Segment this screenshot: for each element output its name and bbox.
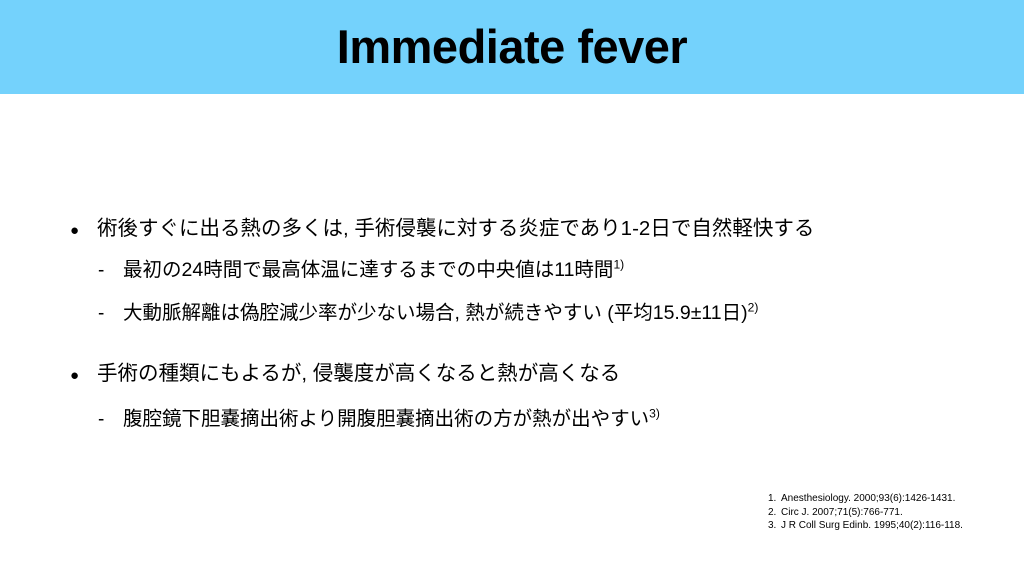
page-title: Immediate fever <box>337 23 687 70</box>
bullet-marker-dash-icon: - <box>98 410 123 429</box>
sub-bullet-item: - 腹腔鏡下胆嚢摘出術より開腹胆嚢摘出術の方が熱が出やすい3) <box>98 408 660 431</box>
reference-item: 1. Anesthesiology. 2000;93(6):1426-1431. <box>768 492 963 506</box>
sub-bullet-item: - 最初の24時間で最高体温に達するまでの中央値は11時間1) <box>98 259 624 282</box>
sub-bullet-superscript: 1) <box>613 258 624 272</box>
sub-bullet-item: - 大動脈解離は偽腔減少率が少ない場合, 熱が続きやすい (平均15.9±11日… <box>98 302 758 325</box>
references-list: 1. Anesthesiology. 2000;93(6):1426-1431.… <box>768 492 963 533</box>
title-banner: Immediate fever <box>0 0 1024 94</box>
bullet-marker-dot-icon: ● <box>70 223 97 238</box>
bullet-text: 術後すぐに出る熱の多くは, 手術侵襲に対する炎症であり1-2日で自然軽快する <box>97 217 814 242</box>
bullet-marker-dash-icon: - <box>98 261 123 280</box>
reference-number: 1. <box>768 492 781 506</box>
sub-bullet-text: 腹腔鏡下胆嚢摘出術より開腹胆嚢摘出術の方が熱が出やすい3) <box>123 408 660 431</box>
bullet-marker-dash-icon: - <box>98 304 123 323</box>
bullet-text: 手術の種類にもよるが, 侵襲度が高くなると熱が高くなる <box>97 362 620 387</box>
reference-citation: Circ J. 2007;71(5):766-771. <box>781 506 903 520</box>
sub-bullet-text: 大動脈解離は偽腔減少率が少ない場合, 熱が続きやすい (平均15.9±11日)2… <box>123 302 758 325</box>
reference-number: 3. <box>768 519 781 533</box>
bullet-marker-dot-icon: ● <box>70 368 97 383</box>
bullet-item: ● 手術の種類にもよるが, 侵襲度が高くなると熱が高くなる <box>70 362 620 387</box>
reference-citation: Anesthesiology. 2000;93(6):1426-1431. <box>781 492 955 506</box>
bullet-item: ● 術後すぐに出る熱の多くは, 手術侵襲に対する炎症であり1-2日で自然軽快する <box>70 217 814 242</box>
sub-bullet-text: 最初の24時間で最高体温に達するまでの中央値は11時間1) <box>123 259 624 282</box>
reference-item: 2. Circ J. 2007;71(5):766-771. <box>768 506 963 520</box>
reference-item: 3. J R Coll Surg Edinb. 1995;40(2):116-1… <box>768 519 963 533</box>
sub-bullet-superscript: 3) <box>649 407 660 421</box>
sub-bullet-superscript: 2) <box>748 301 759 315</box>
reference-citation: J R Coll Surg Edinb. 1995;40(2):116-118. <box>781 519 963 533</box>
reference-number: 2. <box>768 506 781 520</box>
